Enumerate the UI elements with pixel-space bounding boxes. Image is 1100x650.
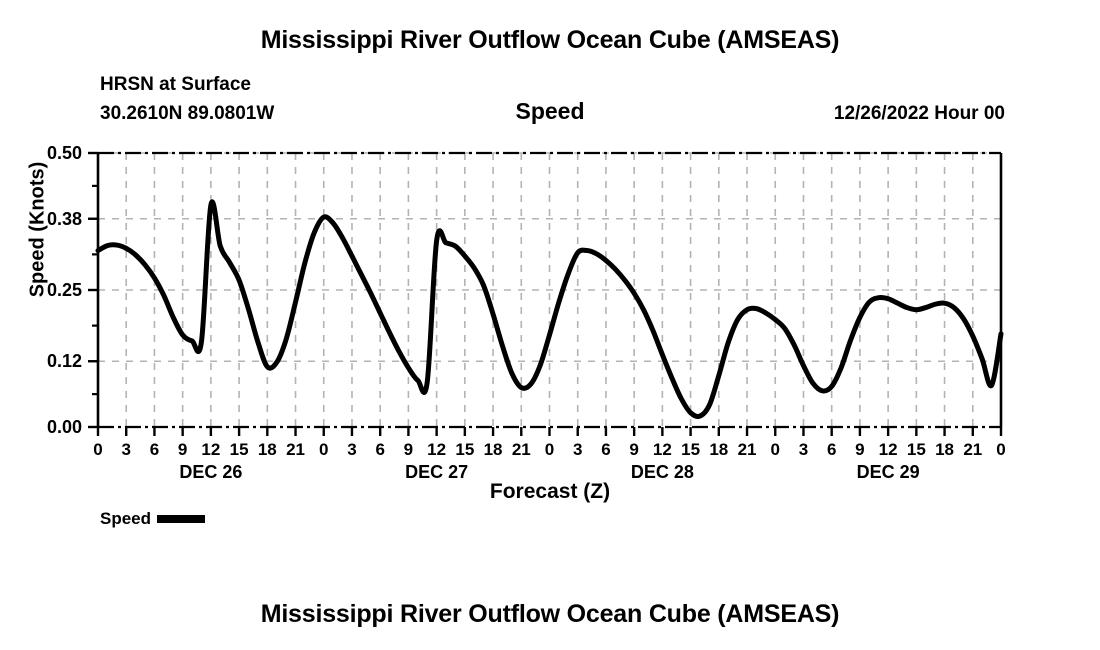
x-tick-label: 0 [771,440,780,459]
x-axis-day-label: DEC 28 [631,462,694,482]
chart-page: Mississippi River Outflow Ocean Cube (AM… [0,0,1100,650]
legend-item-label: Speed [100,509,151,529]
x-tick-label: 15 [907,440,926,459]
x-tick-label: 21 [963,440,982,459]
legend: Speed [100,509,205,529]
x-tick-label: 18 [258,440,277,459]
x-tick-label: 18 [935,440,954,459]
x-tick-label: 6 [827,440,836,459]
y-tick-label: 0.12 [47,351,82,371]
x-tick-label: 3 [573,440,582,459]
x-tick-label: 21 [738,440,757,459]
x-tick-label: 21 [512,440,531,459]
x-tick-label: 9 [855,440,864,459]
x-tick-label: 0 [996,440,1005,459]
x-tick-label: 21 [286,440,305,459]
x-tick-label: 18 [709,440,728,459]
x-tick-label: 6 [601,440,610,459]
x-axis-day-label: DEC 27 [405,462,468,482]
footer-title: Mississippi River Outflow Ocean Cube (AM… [0,600,1100,629]
x-tick-label: 3 [347,440,356,459]
x-tick-label: 3 [121,440,130,459]
x-tick-label: 12 [879,440,898,459]
x-tick-label: 0 [319,440,328,459]
x-tick-label: 0 [93,440,102,459]
x-tick-label: 15 [455,440,474,459]
x-axis-day-label: DEC 26 [179,462,242,482]
x-tick-label: 6 [375,440,384,459]
x-tick-label: 0 [545,440,554,459]
y-tick-label: 0.50 [47,143,82,163]
x-tick-label: 3 [799,440,808,459]
x-tick-label: 12 [427,440,446,459]
x-tick-label: 15 [681,440,700,459]
x-tick-label: 18 [484,440,503,459]
x-tick-label: 6 [150,440,159,459]
y-tick-label: 0.38 [47,209,82,229]
x-tick-label: 9 [629,440,638,459]
x-tick-label: 9 [178,440,187,459]
x-tick-label: 9 [404,440,413,459]
y-tick-label: 0.00 [47,417,82,437]
x-tick-label: 12 [653,440,672,459]
x-tick-label: 15 [230,440,249,459]
legend-line-swatch [157,515,205,523]
x-tick-label: 12 [201,440,220,459]
speed-timeseries-plot: 0.000.120.250.380.5003691215182103691215… [0,0,1100,650]
x-axis-day-label: DEC 29 [857,462,920,482]
y-tick-label: 0.25 [47,280,82,300]
